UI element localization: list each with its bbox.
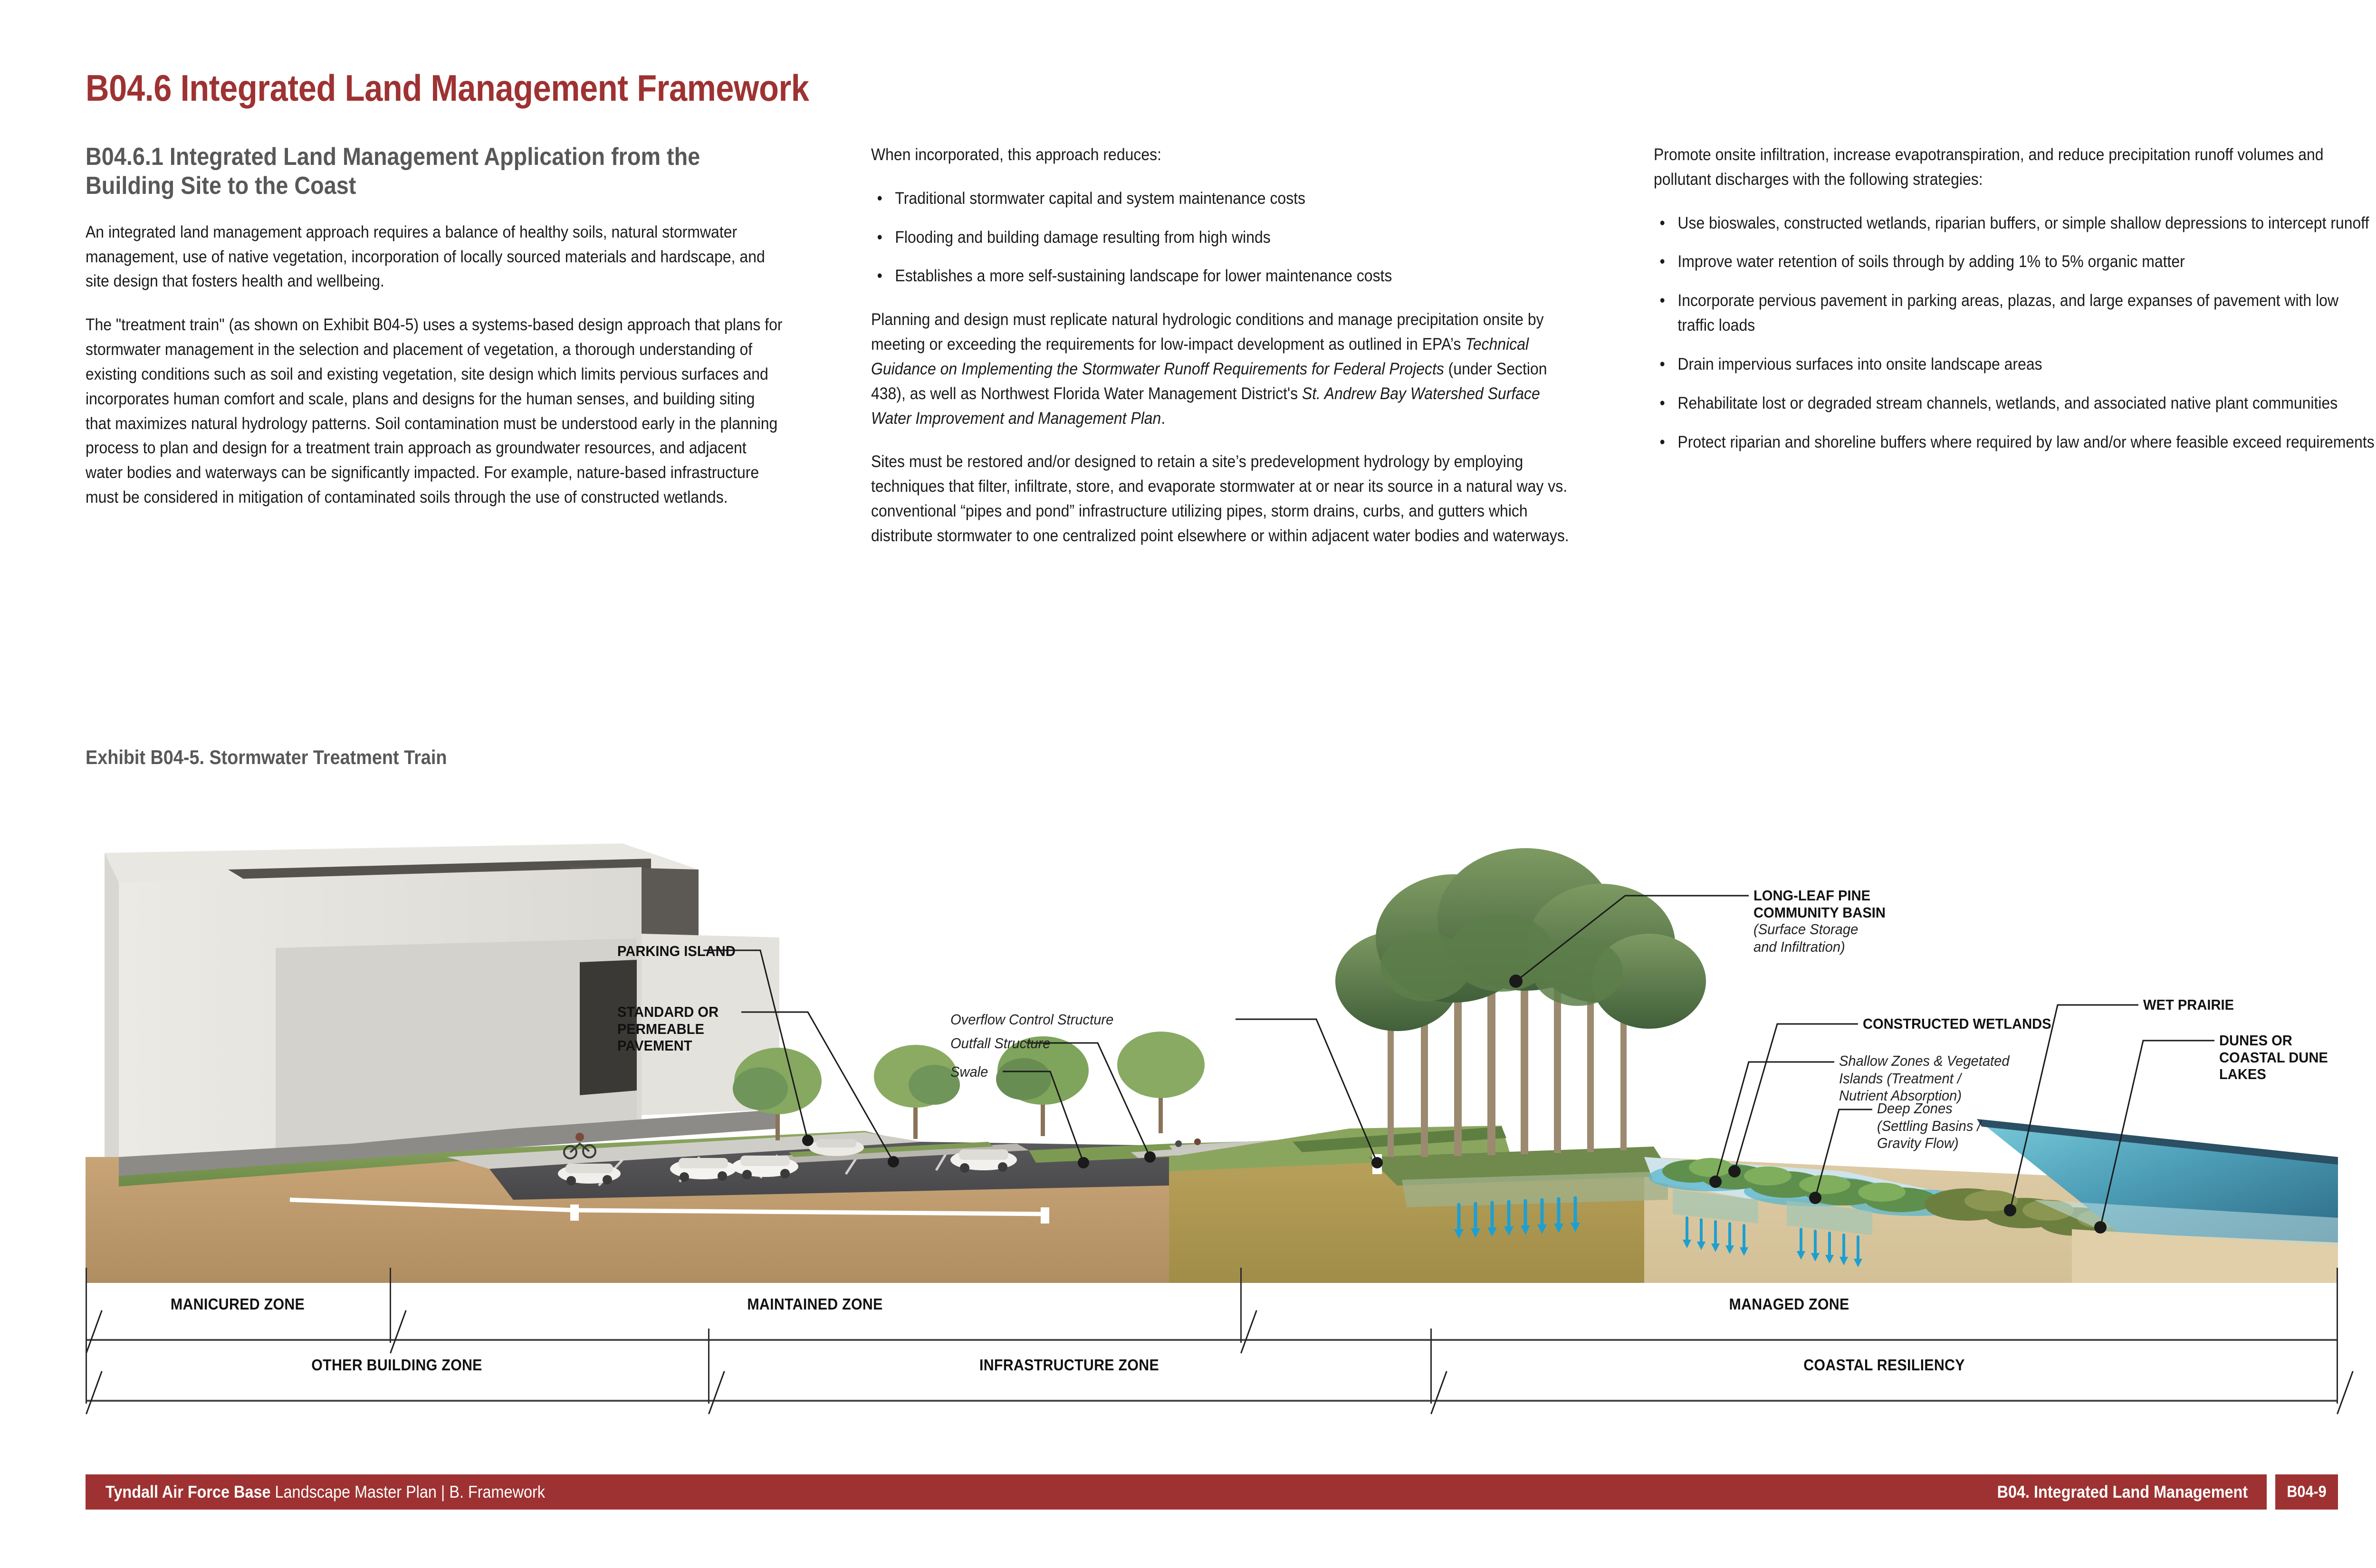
list-item-label: Establishes a more self-sustaining lands…	[895, 266, 1392, 285]
callout-label-line2: COMMUNITY BASIN	[1753, 904, 1886, 921]
zone-label: OTHER BUILDING ZONE	[110, 1356, 683, 1374]
zone-divider	[390, 1268, 391, 1343]
callout-label: Overflow Control Structure	[950, 1011, 1113, 1029]
callout-shallow-zones: Shallow Zones & Vegetated Islands (Treat…	[1839, 1052, 2020, 1105]
zone-divider	[1240, 1268, 1242, 1343]
callout-label-line3: Gravity Flow)	[1877, 1135, 1981, 1152]
callout-label-line1: DUNES OR	[2219, 1032, 2328, 1049]
callout-label: Swale	[950, 1063, 988, 1081]
list-item: •Establishes a more self-sustaining land…	[871, 264, 1583, 288]
callout-overflow-control-structure: Overflow Control Structure	[950, 1011, 1124, 1029]
list-item: •Drain impervious surfaces into onsite l…	[1654, 352, 2375, 377]
callout-outfall-structure: Outfall Structure	[950, 1035, 1057, 1052]
zone-divider	[1430, 1329, 1432, 1404]
list-item-label: Protect riparian and shoreline buffers w…	[1677, 432, 2374, 451]
zone-label: MANAGED ZONE	[1284, 1295, 2294, 1313]
zone-divider	[708, 1329, 709, 1404]
exhibit-caption: Exhibit B04-5. Stormwater Treatment Trai…	[86, 746, 447, 769]
col2-bullet-list: •Traditional stormwater capital and syst…	[871, 186, 1583, 288]
col3-bullet-list: •Use bioswales, constructed wetlands, ri…	[1654, 211, 2375, 455]
list-item-label: Use bioswales, constructed wetlands, rip…	[1677, 213, 2369, 232]
list-item-label: Rehabilitate lost or degraded stream cha…	[1677, 393, 2338, 412]
column-one: B04.6.1 Integrated Land Management Appli…	[86, 143, 784, 510]
zone-row-upper: MANICURED ZONE MAINTAINED ZONE MANAGED Z…	[86, 1283, 2338, 1341]
bullet-glyph: •	[877, 186, 882, 211]
callout-label-line1: Shallow Zones & Vegetated	[1839, 1052, 2010, 1070]
list-item: •Flooding and building damage resulting …	[871, 225, 1583, 250]
bullet-glyph: •	[877, 225, 882, 250]
list-item-label: Improve water retention of soils through…	[1677, 252, 2184, 271]
col2-intro: When incorporated, this approach reduces…	[871, 143, 1583, 167]
callout-label-line2: PERMEABLE	[617, 1021, 719, 1038]
callout-label-line2: (Settling Basins /	[1877, 1118, 1981, 1135]
footer-page-number: B04-9	[2287, 1483, 2326, 1501]
zone-row-lower: OTHER BUILDING ZONE INFRASTRUCTURE ZONE …	[86, 1344, 2338, 1402]
footer-document-title: Tyndall Air Force Base Landscape Master …	[105, 1482, 545, 1502]
bullet-glyph: •	[1660, 211, 1665, 236]
callout-sublabel-line2: and Infiltration)	[1753, 938, 1886, 956]
callout-label-line2: Islands (Treatment /	[1839, 1070, 2010, 1088]
bullet-glyph: •	[1660, 249, 1665, 274]
column-three: Promote onsite infiltration, increase ev…	[1654, 143, 2376, 473]
document-page: B04.6 Integrated Land Management Framewo…	[0, 0, 2376, 1568]
zone-label: MANICURED ZONE	[98, 1295, 378, 1313]
dimension-tick-end	[2337, 1371, 2354, 1414]
list-item-label: Flooding and building damage resulting f…	[895, 228, 1270, 247]
list-item-label: Traditional stormwater capital and syste…	[895, 189, 1305, 208]
callout-label-line1: LONG-LEAF PINE	[1753, 887, 1886, 904]
page-title: B04.6 Integrated Land Management Framewo…	[86, 67, 809, 110]
dimension-tick	[86, 1371, 103, 1414]
footer-bar-section: B04. Integrated Land Management	[1792, 1474, 2267, 1510]
zone-segment-managed: MANAGED ZONE	[1240, 1283, 2338, 1341]
col2-paragraph-3: Sites must be restored and/or designed t…	[871, 449, 1583, 548]
zone-segment-maintained: MAINTAINED ZONE	[390, 1283, 1240, 1341]
callout-dunes-coastal-dune-lakes: DUNES OR COASTAL DUNE LAKES	[2219, 1032, 2335, 1083]
footer-doc-name: Landscape Master Plan | B. Framework	[271, 1482, 545, 1501]
bullet-glyph: •	[877, 264, 882, 288]
col3-intro: Promote onsite infiltration, increase ev…	[1654, 143, 2375, 192]
callout-label: WET PRAIRIE	[2143, 996, 2234, 1013]
zone-label: COASTAL RESILIENCY	[1466, 1356, 2301, 1374]
column-two: When incorporated, this approach reduces…	[871, 143, 1584, 548]
section-heading: B04.6.1 Integrated Land Management Appli…	[86, 143, 784, 201]
callout-label-line3: LAKES	[2219, 1066, 2328, 1083]
footer-bar-page-number: B04-9	[2275, 1474, 2338, 1510]
zone-segment-other-building: OTHER BUILDING ZONE	[86, 1344, 708, 1402]
col1-paragraph-2: The "treatment train" (as shown on Exhib…	[86, 313, 784, 510]
list-item: •Incorporate pervious pavement in parkin…	[1654, 288, 2375, 338]
bullet-glyph: •	[1660, 288, 1665, 313]
callout-swale: Swale	[950, 1063, 990, 1081]
zone-dimension-bars: MANICURED ZONE MAINTAINED ZONE MANAGED Z…	[86, 1283, 2338, 1425]
callout-sublabel-line1: (Surface Storage	[1753, 921, 1886, 938]
list-item: •Protect riparian and shoreline buffers …	[1654, 430, 2375, 455]
col1-paragraph-1: An integrated land management approach r…	[86, 220, 784, 294]
callout-label-line2: COASTAL DUNE	[2219, 1049, 2328, 1066]
page-footer: Tyndall Air Force Base Landscape Master …	[86, 1474, 2338, 1510]
callout-label-line1: STANDARD OR	[617, 1004, 719, 1021]
para-text: Planning and design must replicate natur…	[871, 310, 1544, 354]
callout-label: CONSTRUCTED WETLANDS	[1863, 1015, 2051, 1033]
zone-divider-end	[2337, 1329, 2338, 1404]
callout-permeable-pavement: STANDARD OR PERMEABLE PAVEMENT	[617, 1004, 725, 1054]
zone-label: MAINTAINED ZONE	[424, 1295, 1207, 1313]
para-text: .	[1161, 409, 1165, 428]
list-item-label: Drain impervious surfaces into onsite la…	[1677, 354, 2042, 373]
zone-label: INFRASTRUCTURE ZONE	[737, 1356, 1401, 1374]
list-item: •Use bioswales, constructed wetlands, ri…	[1654, 211, 2375, 236]
footer-bar-left: Tyndall Air Force Base Landscape Master …	[86, 1474, 1792, 1510]
bullet-glyph: •	[1660, 430, 1665, 455]
col2-paragraph-2: Planning and design must replicate natur…	[871, 307, 1583, 430]
list-item: •Traditional stormwater capital and syst…	[871, 186, 1583, 211]
footer-base-name: Tyndall Air Force Base	[105, 1482, 271, 1501]
callout-label-line1: Deep Zones	[1877, 1100, 1981, 1118]
exhibit-rendering: PARKING ISLAND STANDARD OR PERMEABLE PAV…	[86, 824, 2338, 1285]
dimension-tick	[1430, 1371, 1447, 1414]
bullet-glyph: •	[1660, 352, 1665, 377]
callout-constructed-wetlands: CONSTRUCTED WETLANDS	[1863, 1015, 2063, 1033]
bullet-glyph: •	[1660, 391, 1665, 416]
list-item: •Rehabilitate lost or degraded stream ch…	[1654, 391, 2375, 416]
zone-segment-infrastructure: INFRASTRUCTURE ZONE	[708, 1344, 1430, 1402]
zone-segment-coastal-resiliency: COASTAL RESILIENCY	[1430, 1344, 2338, 1402]
zone-divider	[86, 1329, 87, 1404]
callout-label: Outfall Structure	[950, 1035, 1051, 1052]
dimension-tick	[708, 1371, 725, 1414]
callout-long-leaf-pine-basin: LONG-LEAF PINE COMMUNITY BASIN (Surface …	[1753, 887, 1894, 956]
list-item-label: Incorporate pervious pavement in parking…	[1677, 291, 2338, 335]
callout-label: PARKING ISLAND	[617, 943, 736, 960]
zone-segment-manicured: MANICURED ZONE	[86, 1283, 390, 1341]
callout-deep-zones: Deep Zones (Settling Basins / Gravity Fl…	[1877, 1100, 1988, 1152]
callout-parking-island: PARKING ISLAND	[617, 943, 743, 960]
list-item: •Improve water retention of soils throug…	[1654, 249, 2375, 274]
footer-section-title: B04. Integrated Land Management	[1997, 1482, 2248, 1502]
callout-label-line3: PAVEMENT	[617, 1037, 719, 1054]
callout-wet-prairie: WET PRAIRIE	[2143, 996, 2240, 1013]
